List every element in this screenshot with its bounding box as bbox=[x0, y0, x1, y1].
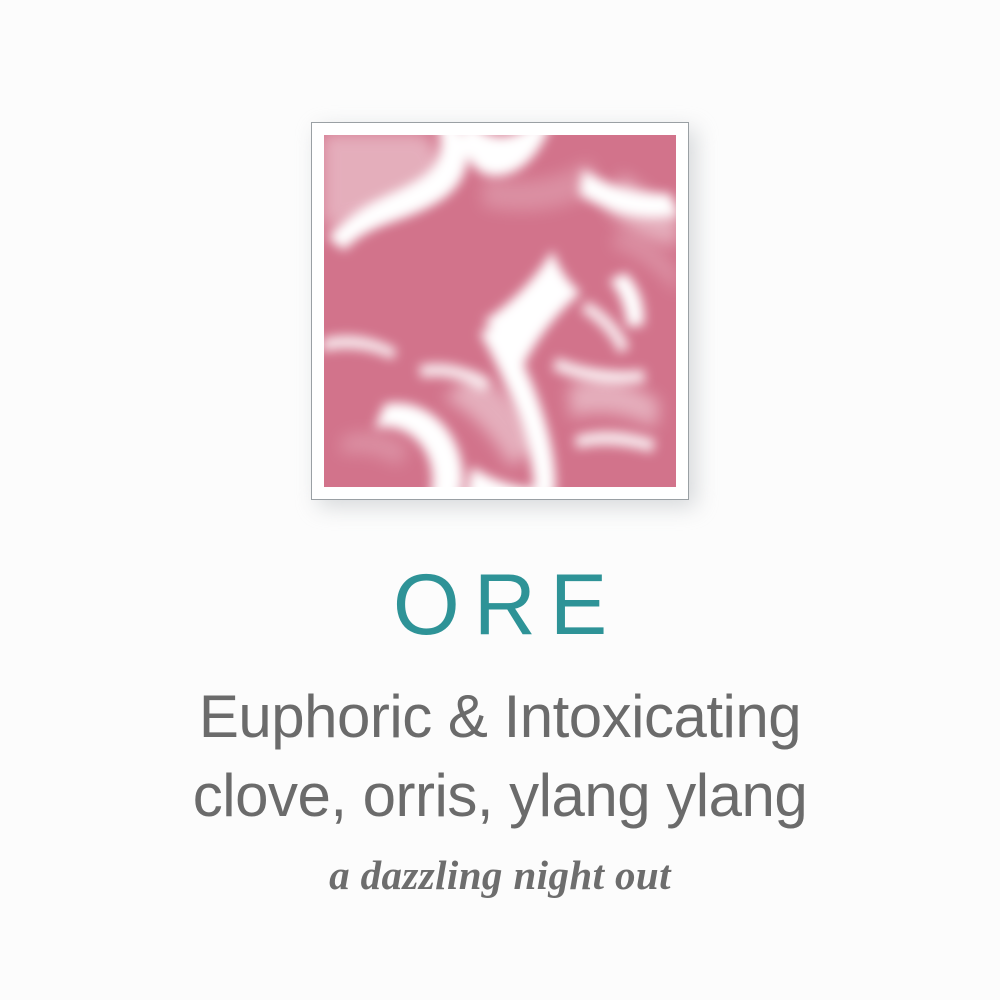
product-mood-line: Euphoric & Intoxicating bbox=[0, 682, 1000, 753]
product-notes-line: clove, orris, ylang ylang bbox=[0, 761, 1000, 832]
product-card: ORE Euphoric & Intoxicating clove, orris… bbox=[0, 0, 1000, 1000]
marble-texture-graphic bbox=[324, 135, 676, 487]
pink-marble-swatch bbox=[324, 135, 676, 487]
product-tagline: a dazzling night out bbox=[0, 851, 1000, 900]
product-title: ORE bbox=[0, 562, 1000, 648]
swatch-frame-container bbox=[311, 122, 689, 500]
white-photo-frame bbox=[311, 122, 689, 500]
